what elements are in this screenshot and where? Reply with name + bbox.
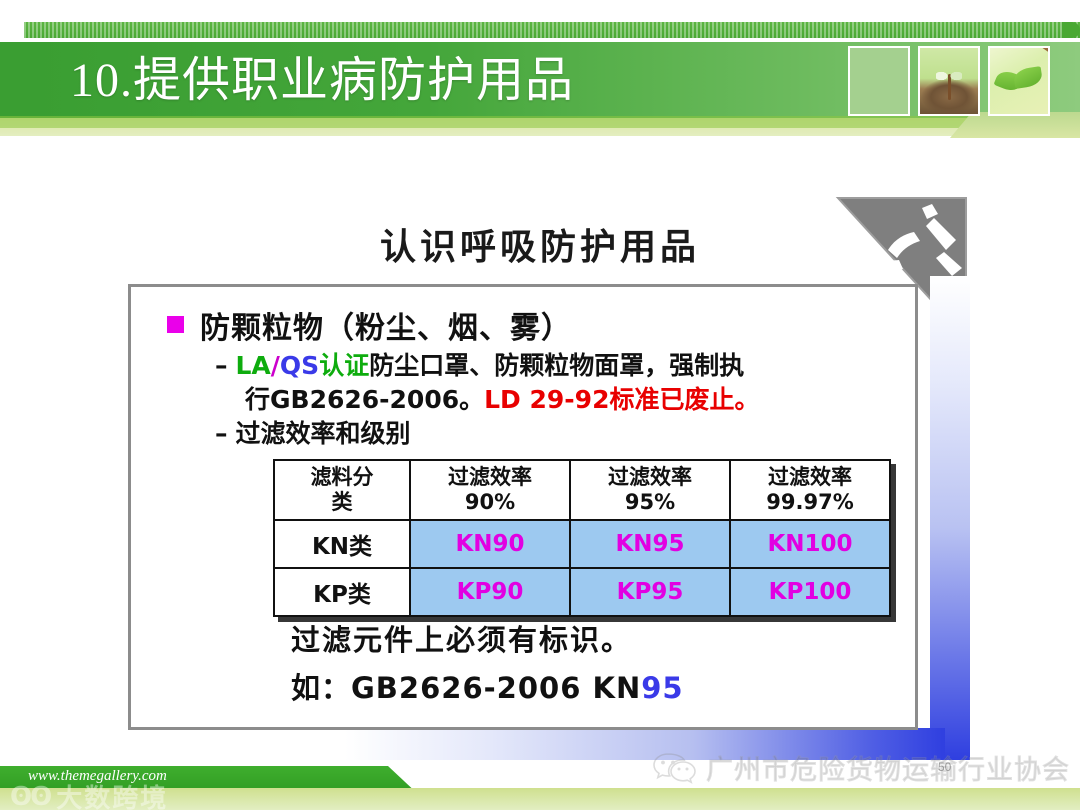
row-label-kn: KN类 [274,520,410,568]
cell-kp100: KP100 [730,568,890,616]
dash-marker-b: – [215,419,228,448]
page-title: 10.提供职业病防护用品 [70,44,574,118]
cell-kn95: KN95 [570,520,730,568]
header-cell-3-line1: 过滤效率 [768,465,852,489]
watermark-right: 广州市危险货物运输行业协会 [652,748,1070,787]
bullet-level2-line2: 行GB2626-2006。LD 29-92标准已废止。 [215,383,895,417]
note-marking-required: 过滤元件上必须有标识。 [291,617,632,659]
note-example-highlight: 95 [641,671,683,705]
bullet-level2-row-a: –LA/QS认证防尘口罩、防颗粒物面罩，强制执 行GB2626-2006。LD … [215,349,895,417]
watermark-left-logo-icon: ʘʘ [10,782,50,810]
header-cell-0-line2: 类 [332,490,353,514]
table-row: KP类 KP90 KP95 KP100 [274,568,890,616]
bullet-level2-row-b: –过滤效率和级别 [215,417,895,451]
accent-bar-vertical [930,276,970,760]
table-header-cell-1: 过滤效率 90% [410,460,570,520]
cell-kp95: KP95 [570,568,730,616]
row-label-kp: KP类 [274,568,410,616]
seg-la: LA [236,351,271,380]
table-header-cell-3: 过滤效率 99.97% [730,460,890,520]
plain-green-swatch-icon [848,46,910,116]
seg-qs: QS [280,351,319,380]
header-thumbnail-strip [848,46,1050,116]
bullet-level1-row: 防颗粒物（粉尘、烟、雾） [167,303,572,347]
watermark-right-text: 广州市危险货物运输行业协会 [706,748,1070,787]
content-panel: 防颗粒物（粉尘、烟、雾） –LA/QS认证防尘口罩、防颗粒物面罩，强制执 行GB… [128,284,918,730]
seedling-photo-icon [918,46,980,116]
header-top-stripe [24,22,1080,38]
seg-slash: / [271,351,280,380]
filter-grade-table-wrap: 滤料分 类 过滤效率 90% 过滤效率 95% 过滤效率 99.97% [273,459,891,617]
watermark-left-text: 大数跨境 [56,778,168,810]
header-cell-2-line2: 95% [625,490,675,514]
table-row: KN类 KN90 KN95 KN100 [274,520,890,568]
header-cell-1-line1: 过滤效率 [448,465,532,489]
table-header-cell-0: 滤料分 类 [274,460,410,520]
bullet-level2-text-b: 过滤效率和级别 [236,419,411,448]
slide-canvas: 10.提供职业病防护用品 认识呼吸防护用品 [0,0,1080,810]
table-header-row: 滤料分 类 过滤效率 90% 过滤效率 95% 过滤效率 99.97% [274,460,890,520]
seg-ld-obsolete: LD 29-92标准已废止。 [484,385,759,414]
note-example: 如：GB2626-2006 KN95 [291,665,684,707]
seg-gb-standard: 行GB2626-2006。 [245,385,484,414]
slide-header: 10.提供职业病防护用品 [0,0,1080,136]
leaves-photo-icon [988,46,1050,116]
branch-shape [1004,46,1050,54]
cell-kp90: KP90 [410,568,570,616]
page-number: 50 [938,760,951,774]
square-bullet-icon [167,316,184,333]
header-band-left-cap [0,42,26,120]
table-header-cell-2: 过滤效率 95% [570,460,730,520]
dash-marker-a: – [215,351,228,380]
wechat-icon [652,751,696,785]
note-example-prefix: 如：GB2626-2006 KN [291,671,641,705]
watermark-left: ʘʘ 大数跨境 [10,778,168,810]
filter-grade-table: 滤料分 类 过滤效率 90% 过滤效率 95% 过滤效率 99.97% [273,459,891,617]
cell-kn100: KN100 [730,520,890,568]
header-cell-0-line1: 滤料分 [311,465,374,489]
header-cell-1-line2: 90% [465,490,515,514]
seg-renzheng: 认证 [319,351,369,380]
header-cell-3-line2: 99.97% [766,490,853,514]
bullet-level1-text: 防颗粒物（粉尘、烟、雾） [200,303,572,347]
seg-rest: 防尘口罩、防颗粒物面罩，强制执 [369,351,744,380]
leaf-shape-right [1013,66,1043,89]
header-cell-2-line1: 过滤效率 [608,465,692,489]
cell-kn90: KN90 [410,520,570,568]
